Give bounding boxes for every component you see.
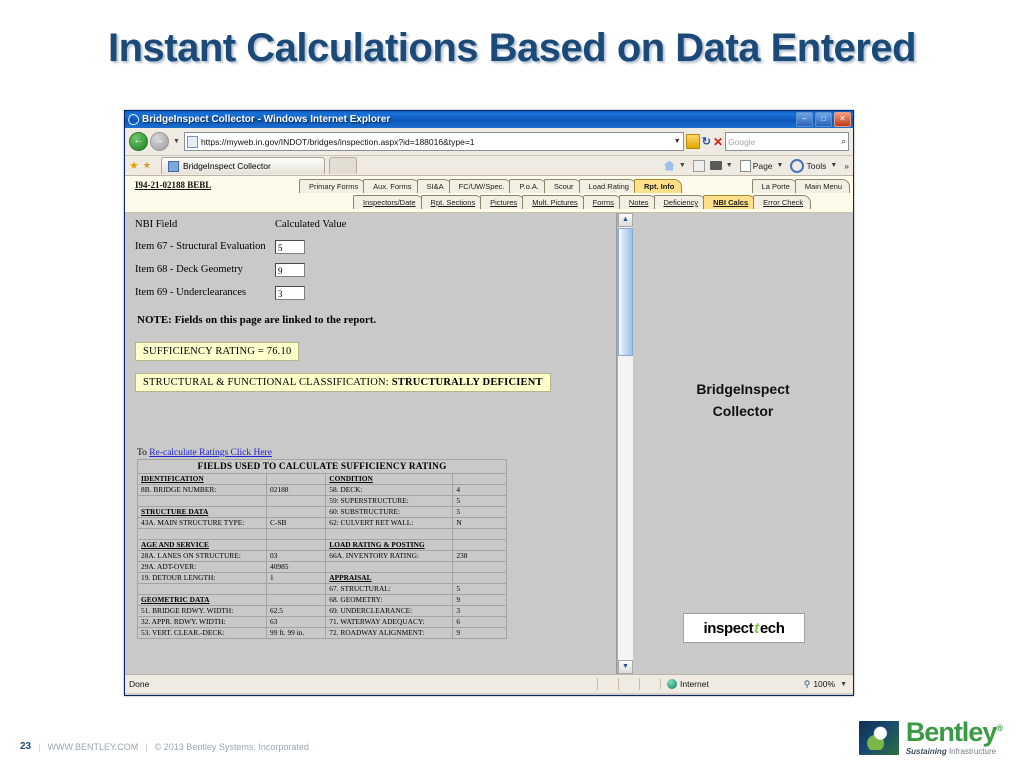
tab-notes[interactable]: Notes <box>619 195 657 209</box>
zoom-caret-icon[interactable]: ▼ <box>838 681 849 688</box>
item-69-value-input[interactable]: 3 <box>275 286 305 300</box>
tab-scour[interactable]: Scour <box>544 179 582 193</box>
favorites-bar: ★ ★ BridgeInspect Collector ▼ ▼ Page▼ To… <box>125 156 853 176</box>
row-left-label: 32. APPR. RDWY. WIDTH: <box>138 617 267 628</box>
recalculate-ratings-link[interactable]: Re-calculate Ratings Click Here <box>149 448 272 458</box>
table-row: STRUCTURE DATA 60: SUBSTRUCTURE: 5 <box>138 507 507 518</box>
header-nbi-field: NBI Field <box>135 219 275 230</box>
nbi-field-row: Item 69 - Underclearances 3 <box>135 286 616 300</box>
home-icon <box>664 161 675 171</box>
row-right-label: 58. DECK: <box>326 485 453 496</box>
row-right-value <box>453 540 507 551</box>
row-left-label: 8B. BRIDGE NUMBER: <box>138 485 267 496</box>
sufficiency-fields-table: FIELDS USED TO CALCULATE SUFFICIENCY RAT… <box>137 459 507 639</box>
tools-menu-button[interactable]: Tools▼ <box>790 159 839 173</box>
branding-pane: BridgeInspect Collector inspecttech <box>633 213 853 674</box>
header-calculated-value: Calculated Value <box>275 219 346 230</box>
status-segment <box>597 678 618 690</box>
table-row: 29A. ADT-OVER: 40985 <box>138 562 507 573</box>
row-right-label <box>326 562 453 573</box>
favorites-star-icon[interactable]: ★ <box>129 159 139 172</box>
row-left-label: STRUCTURE DATA <box>138 507 267 518</box>
row-left-value: 40985 <box>267 562 326 573</box>
footer-copyright: © 2013 Bentley Systems, Incorporated <box>155 742 309 752</box>
row-right-label: 66A. INVENTORY RATING: <box>326 551 453 562</box>
nbi-table-headers: NBI Field Calculated Value <box>135 219 616 230</box>
item-69-label: Item 69 - Underclearances <box>135 286 275 299</box>
row-right-label: 59: SUPERSTRUCTURE: <box>326 496 453 507</box>
print-icon <box>710 161 722 170</box>
bentley-logo: Bentley® Sustaining Infrastructure <box>859 719 1002 756</box>
row-left-label: GEOMETRIC DATA <box>138 595 267 606</box>
browser-tab-label: BridgeInspect Collector <box>183 161 271 171</box>
row-right-label: 67. STRUCTURAL: <box>326 584 453 595</box>
footer-separator: | <box>145 742 147 752</box>
tab-main-menu[interactable]: Main Menu <box>795 179 850 193</box>
tools-icon <box>790 159 804 173</box>
tagline-rest: Infrastructure <box>949 747 996 756</box>
inspecttech-logo: inspecttech <box>683 613 805 643</box>
table-row: 51. BRIDGE RDWY. WIDTH: 62.5 69. UNDERCL… <box>138 606 507 617</box>
table-caption-row: FIELDS USED TO CALCULATE SUFFICIENCY RAT… <box>138 460 507 474</box>
recalculate-prefix: To <box>137 448 147 458</box>
url-input[interactable]: https://myweb.in.gov/INDOT/bridges/inspe… <box>184 132 684 151</box>
zoom-level: 100% <box>813 679 835 689</box>
row-right-value: 4 <box>453 485 507 496</box>
row-right-value <box>453 573 507 584</box>
row-left-label <box>138 496 267 507</box>
browser-window: BridgeInspect Collector - Windows Intern… <box>124 110 854 696</box>
search-placeholder: Google <box>728 137 841 147</box>
bentley-name-text: Bentley <box>906 717 997 747</box>
slide-root: Instant Calculations Based on Data Enter… <box>0 0 1024 768</box>
item-67-label: Item 67 - Structural Evaluation <box>135 240 275 253</box>
row-left-value: 03 <box>267 551 326 562</box>
bentley-mark-icon <box>859 721 899 755</box>
classification-label: STRUCTURAL & FUNCTIONAL CLASSIFICATION: <box>143 377 389 388</box>
table-caption: FIELDS USED TO CALCULATE SUFFICIENCY RAT… <box>138 460 507 474</box>
row-left-value: 99 ft. 99 in. <box>267 628 326 639</box>
row-left-value: 02188 <box>267 485 326 496</box>
row-left-value <box>267 507 326 518</box>
bentley-wordmark: Bentley® Sustaining Infrastructure <box>906 719 1002 756</box>
app-navigation: I94-21-02188 BEBL Primary Forms Aux. For… <box>125 176 853 213</box>
zoom-control[interactable]: ⚲ 100% ▼ <box>787 679 849 690</box>
tab-pictures[interactable]: Pictures <box>480 195 525 209</box>
item-67-value-input[interactable]: 5 <box>275 240 305 254</box>
row-left-label <box>138 584 267 595</box>
tab-load-rating[interactable]: Load Rating <box>579 179 637 193</box>
address-bar: ← → ▼ https://myweb.in.gov/INDOT/bridges… <box>125 128 853 156</box>
minimize-button[interactable]: – <box>796 112 813 127</box>
stop-icon[interactable]: ✕ <box>713 135 723 149</box>
forward-arrow-icon: → <box>151 133 168 148</box>
row-right-value: 5 <box>453 584 507 595</box>
tab-mult-pictures[interactable]: Mult. Pictures <box>522 195 585 209</box>
row-left-label: 29A. ADT-OVER: <box>138 562 267 573</box>
row-left-value: 1 <box>267 573 326 584</box>
status-text: Done <box>129 679 597 689</box>
home-button[interactable]: ▼ <box>664 161 688 171</box>
table-row: GEOMETRIC DATA 68. GEOMETRY: 9 <box>138 595 507 606</box>
row-right-value <box>453 474 507 485</box>
content-scrollbar[interactable]: ▲ ▼ <box>617 213 633 674</box>
row-left-value <box>267 474 326 485</box>
app-tabs-row-1: Primary Forms Aux. Forms SI&A FC/UW/Spec… <box>299 179 847 193</box>
url-dropdown-icon[interactable]: ▼ <box>674 138 681 145</box>
window-controls: – □ ✕ <box>796 112 851 127</box>
row-right-label: APPRAISAL <box>326 573 453 584</box>
table-row: AGE AND SERVICE LOAD RATING & POSTING <box>138 540 507 551</box>
tab-aux-forms[interactable]: Aux. Forms <box>363 179 419 193</box>
home-caret-icon[interactable]: ▼ <box>677 162 688 169</box>
row-left-label: 53. VERT. CLEAR.-DECK: <box>138 628 267 639</box>
footer-separator: | <box>38 742 40 752</box>
table-row: 67. STRUCTURAL: 5 <box>138 584 507 595</box>
row-left-value <box>267 529 326 540</box>
zoom-icon: ⚲ <box>804 679 811 690</box>
lock-icon <box>686 134 700 149</box>
row-right-label: 71. WATERWAY ADEQUACY: <box>326 617 453 628</box>
tab-nbi-calcs[interactable]: NBI Calcs <box>703 195 756 209</box>
tab-inspectors-date[interactable]: Inspectors/Date <box>353 195 424 209</box>
row-right-label <box>326 529 453 540</box>
security-zone[interactable]: Internet <box>660 679 787 689</box>
nbi-field-row: Item 68 - Deck Geometry 9 <box>135 263 616 277</box>
tab-poa[interactable]: P.o.A. <box>509 179 546 193</box>
security-zone-label: Internet <box>680 679 709 689</box>
row-left-value <box>267 540 326 551</box>
sufficiency-rating-badge: SUFFICIENCY RATING = 76.10 <box>135 342 299 361</box>
status-segment <box>618 678 639 690</box>
window-title: BridgeInspect Collector - Windows Intern… <box>142 114 796 125</box>
tab-primary-forms[interactable]: Primary Forms <box>299 179 366 193</box>
nbi-field-row: Item 67 - Structural Evaluation 5 <box>135 240 616 254</box>
url-text: https://myweb.in.gov/INDOT/bridges/inspe… <box>201 137 671 147</box>
app-tabs-row-2: Inspectors/Date Rpt. Sections Pictures M… <box>353 195 847 209</box>
item-68-label: Item 68 - Deck Geometry <box>135 263 275 276</box>
row-right-value: N <box>453 518 507 529</box>
row-right-value: 9 <box>453 595 507 606</box>
row-left-label: 43A. MAIN STRUCTURE TYPE: <box>138 518 267 529</box>
browser-titlebar: BridgeInspect Collector - Windows Intern… <box>125 111 853 128</box>
logo-text-part1: inspect <box>704 620 754 637</box>
feeds-icon <box>693 160 705 172</box>
row-left-value: 62.5 <box>267 606 326 617</box>
bentley-name: Bentley® <box>906 719 1002 746</box>
row-right-value: 9 <box>453 628 507 639</box>
status-segment <box>639 678 660 690</box>
page-menu-button[interactable]: Page▼ <box>740 160 786 172</box>
table-row: 43A. MAIN STRUCTURE TYPE: C-SB 62: CULVE… <box>138 518 507 529</box>
table-row: 28A. LANES ON STRUCTURE: 03 66A. INVENTO… <box>138 551 507 562</box>
row-left-value: 63 <box>267 617 326 628</box>
row-left-value <box>267 584 326 595</box>
command-bar: ▼ ▼ Page▼ Tools▼ » <box>664 159 849 173</box>
row-right-value: 5 <box>453 507 507 518</box>
print-button[interactable]: ▼ <box>710 161 735 170</box>
logo-text-part2: t <box>753 620 760 637</box>
product-title: BridgeInspect Collector <box>633 378 853 422</box>
row-right-label: CONDITION <box>326 474 453 485</box>
row-left-label: 51. BRIDGE RDWY. WIDTH: <box>138 606 267 617</box>
nbi-calcs-pane: NBI Field Calculated Value Item 67 - Str… <box>125 213 617 674</box>
internet-explorer-icon <box>126 112 140 126</box>
page-menu-icon <box>740 160 751 172</box>
tab-error-check[interactable]: Error Check <box>753 195 811 209</box>
tab-rpt-info[interactable]: Rpt. Info <box>634 179 682 193</box>
row-right-value: 5 <box>453 496 507 507</box>
classification-value: STRUCTURALLY DEFICIENT <box>392 377 543 388</box>
slide-footer: 23 | WWW.BENTLEY.COM | © 2013 Bentley Sy… <box>20 741 309 752</box>
item-68-value-input[interactable]: 9 <box>275 263 305 277</box>
page-icon <box>187 136 198 148</box>
row-right-label: LOAD RATING & POSTING <box>326 540 453 551</box>
registered-mark: ® <box>996 723 1002 733</box>
slide-number: 23 <box>20 741 31 752</box>
row-right-label: 68. GEOMETRY: <box>326 595 453 606</box>
tab-favicon-icon <box>168 161 179 172</box>
internet-globe-icon <box>667 679 677 689</box>
recalculate-line: To Re-calculate Ratings Click Here <box>137 448 616 458</box>
browser-status-bar: Done Internet ⚲ 100% ▼ <box>125 674 853 693</box>
row-right-label: 72. ROADWAY ALIGNMENT: <box>326 628 453 639</box>
logo-text-part3: ech <box>760 620 785 637</box>
table-row: 19. DETOUR LENGTH: 1 APPRAISAL <box>138 573 507 584</box>
bridge-id-label: I94-21-02188 BEBL <box>135 180 211 190</box>
row-left-label: AGE AND SERVICE <box>138 540 267 551</box>
new-tab-button[interactable] <box>329 157 357 174</box>
row-left-value: C-SB <box>267 518 326 529</box>
tab-fc-uw-spec[interactable]: FC/UW/Spec. <box>449 179 513 193</box>
tools-caret-icon[interactable]: ▼ <box>828 162 839 169</box>
back-button[interactable]: ← <box>129 132 148 151</box>
forward-button[interactable]: → <box>150 132 169 151</box>
row-left-label <box>138 529 267 540</box>
row-right-value: 238 <box>453 551 507 562</box>
maximize-button[interactable]: □ <box>815 112 832 127</box>
row-right-label: 69. UNDERCLEARANCE: <box>326 606 453 617</box>
search-icon[interactable]: ⌕ <box>841 136 846 147</box>
add-favorite-icon[interactable]: ★ <box>143 160 151 171</box>
scroll-down-arrow-icon[interactable]: ▼ <box>618 660 633 674</box>
footer-website: WWW.BENTLEY.COM <box>47 742 138 752</box>
table-row: 53. VERT. CLEAR.-DECK: 99 ft. 99 in. 72.… <box>138 628 507 639</box>
feeds-button[interactable] <box>693 160 705 172</box>
row-left-label: IDENTIFICATION <box>138 474 267 485</box>
tab-la-porte[interactable]: La Porte <box>752 179 798 193</box>
page-menu-label: Page <box>753 161 773 171</box>
row-right-value <box>453 529 507 540</box>
refresh-icon[interactable]: ↻ <box>702 135 711 148</box>
close-button[interactable]: ✕ <box>834 112 851 127</box>
history-dropdown-icon[interactable]: ▼ <box>171 138 182 145</box>
row-left-value <box>267 496 326 507</box>
scrollbar-track[interactable] <box>618 356 633 660</box>
note-text: NOTE: Fields on this page are linked to … <box>137 314 616 326</box>
tagline-bold: Sustaining <box>906 747 947 756</box>
row-right-value <box>453 562 507 573</box>
table-row <box>138 529 507 540</box>
row-right-label: 60: SUBSTRUCTURE: <box>326 507 453 518</box>
scroll-up-arrow-icon[interactable]: ▲ <box>618 213 633 227</box>
row-right-label: 62: CULVERT RET WALL: <box>326 518 453 529</box>
bentley-tagline: Sustaining Infrastructure <box>906 748 1002 756</box>
table-row: 8B. BRIDGE NUMBER: 02188 58. DECK: 4 <box>138 485 507 496</box>
row-right-value: 3 <box>453 606 507 617</box>
classification-container: STRUCTURAL & FUNCTIONAL CLASSIFICATION: … <box>135 373 616 392</box>
page-body: NBI Field Calculated Value Item 67 - Str… <box>125 213 853 674</box>
tab-rpt-sections[interactable]: Rpt. Sections <box>421 195 484 209</box>
sufficiency-rating-container: SUFFICIENCY RATING = 76.10 <box>135 342 616 361</box>
product-title-line2: Collector <box>633 400 853 422</box>
command-overflow-icon[interactable]: » <box>844 161 849 171</box>
row-left-value <box>267 595 326 606</box>
table-row: IDENTIFICATION CONDITION <box>138 474 507 485</box>
search-input[interactable]: Google ⌕ <box>725 132 849 151</box>
table-row: 59: SUPERSTRUCTURE: 5 <box>138 496 507 507</box>
spacer <box>135 361 616 373</box>
row-left-label: 28A. LANES ON STRUCTURE: <box>138 551 267 562</box>
tab-deficiency[interactable]: Deficiency <box>654 195 707 209</box>
row-left-label: 19. DETOUR LENGTH: <box>138 573 267 584</box>
tools-menu-label: Tools <box>806 161 826 171</box>
tab-sia[interactable]: SI&A <box>417 179 452 193</box>
product-title-line1: BridgeInspect <box>633 378 853 400</box>
app-tabs-right: La Porte Main Menu <box>752 179 847 193</box>
tab-forms[interactable]: Forms <box>583 195 622 209</box>
page-title: Instant Calculations Based on Data Enter… <box>0 26 1024 71</box>
browser-tab[interactable]: BridgeInspect Collector <box>161 157 325 174</box>
scrollbar-thumb[interactable] <box>618 228 633 356</box>
print-caret-icon[interactable]: ▼ <box>724 162 735 169</box>
back-arrow-icon: ← <box>130 133 147 148</box>
table-row: 32. APPR. RDWY. WIDTH: 63 71. WATERWAY A… <box>138 617 507 628</box>
row-right-value: 6 <box>453 617 507 628</box>
page-caret-icon[interactable]: ▼ <box>775 162 786 169</box>
classification-badge: STRUCTURAL & FUNCTIONAL CLASSIFICATION: … <box>135 373 551 392</box>
